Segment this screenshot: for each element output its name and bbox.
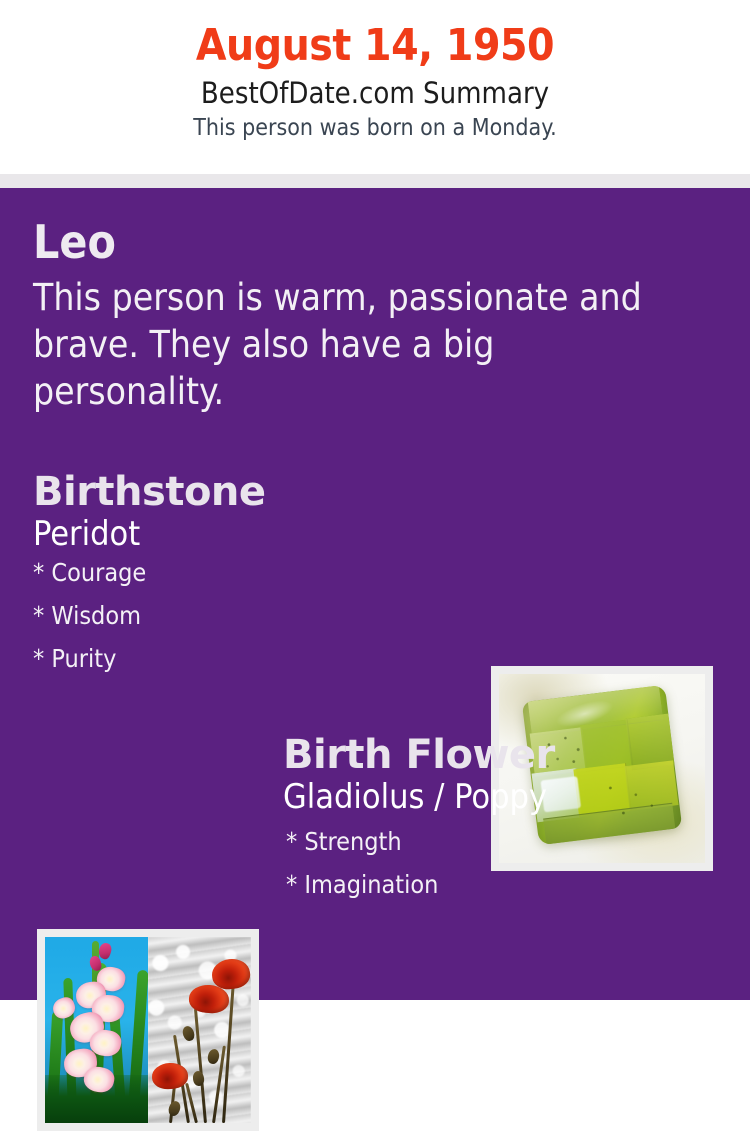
gladiolus-photo-half	[45, 937, 148, 1123]
birth-flower-title: Birth Flower	[283, 733, 723, 777]
list-item: * Purity	[33, 646, 463, 671]
birthstone-section: Birthstone Peridot * Courage * Wisdom * …	[33, 470, 463, 689]
list-item: * Wisdom	[33, 603, 463, 628]
poppy-photo-half	[148, 937, 251, 1123]
list-item: * Strength	[286, 829, 723, 854]
list-item: * Courage	[33, 560, 463, 585]
zodiac-section: Leo This person is warm, passionate and …	[33, 218, 693, 415]
birthstone-trait-list: * Courage * Wisdom * Purity	[33, 560, 463, 671]
list-item: * Imagination	[286, 872, 723, 897]
zodiac-sign-title: Leo	[33, 218, 693, 266]
flower-split-composite	[45, 937, 251, 1123]
birth-flower-trait-list: * Strength * Imagination	[286, 829, 723, 897]
birthstone-title: Birthstone	[33, 470, 463, 514]
born-day-text: This person was born on a Monday.	[0, 114, 750, 143]
gladiolus-and-poppy-image	[45, 937, 251, 1123]
site-subtitle: BestOfDate.com Summary	[0, 75, 750, 111]
birth-flower-name: Gladiolus / Poppy	[283, 778, 723, 817]
header: August 14, 1950 BestOfDate.com Summary T…	[0, 0, 750, 174]
birth-flower-image-frame	[37, 929, 259, 1131]
header-divider	[0, 174, 750, 188]
page-title: August 14, 1950	[0, 22, 750, 70]
zodiac-description: This person is warm, passionate and brav…	[33, 275, 673, 415]
birth-flower-section: Birth Flower Gladiolus / Poppy * Strengt…	[283, 733, 723, 915]
birthstone-name: Peridot	[33, 515, 463, 554]
content-panel: Leo This person is warm, passionate and …	[0, 188, 750, 1000]
summary-card: August 14, 1950 BestOfDate.com Summary T…	[0, 0, 750, 1000]
